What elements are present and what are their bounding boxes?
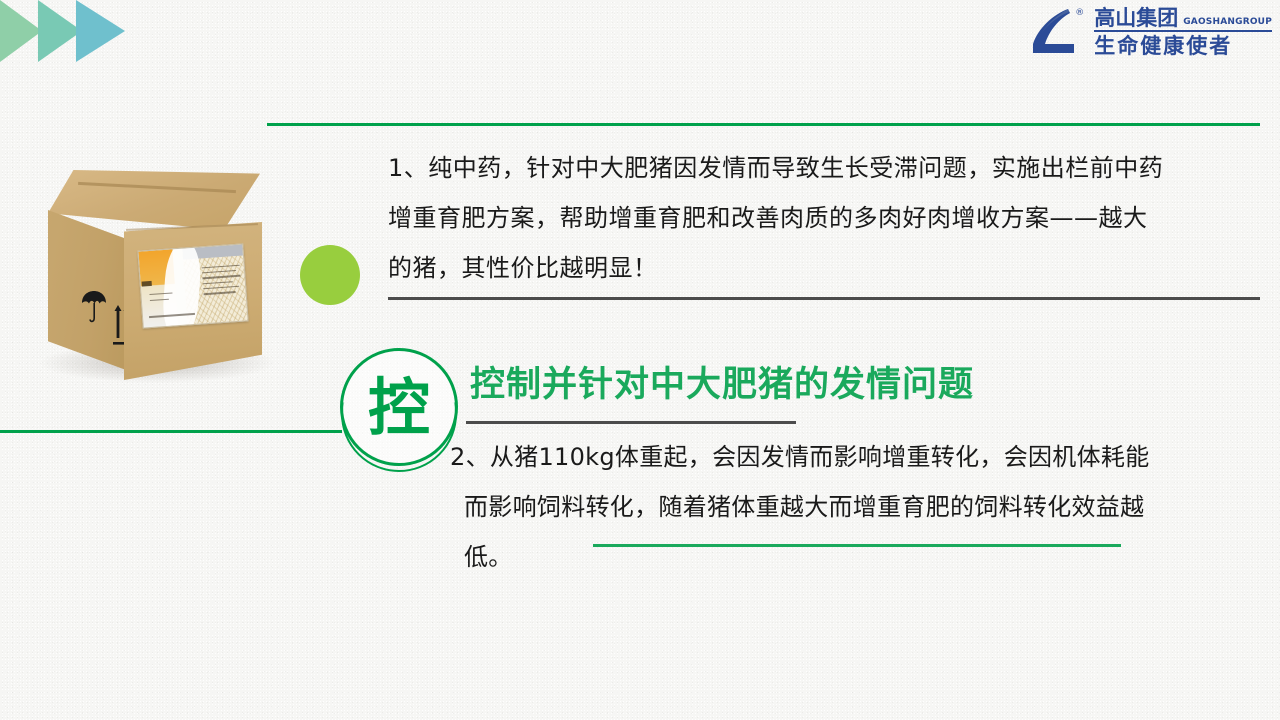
paragraph-2-line-1: 2、从猪110kg体重起，会因发情而影响增重转化，会因机体耗能 [450,443,1150,471]
brand-tagline: 生命健康使者 [1094,33,1272,58]
rule-under-paragraph-1 [388,297,1260,300]
brand-wordmark: 高山集团 GAOSHANGROUP 生命健康使者 [1094,8,1272,58]
brand-name-row: 高山集团 GAOSHANGROUP [1094,8,1272,32]
rule-top [267,123,1260,126]
product-label [137,243,248,328]
gaoshan-logo-mark-icon: ® [1024,6,1086,60]
green-bullet-dot [300,245,360,305]
brand-name-en: GAOSHANGROUP [1183,17,1272,29]
brand-logo: ® 高山集团 GAOSHANGROUP 生命健康使者 [1024,4,1272,62]
product-label-title-block [142,281,152,287]
paragraph-1-text: 1、纯中药，针对中大肥猪因发情而导致生长受滞问题，实施出栏前中药增重育肥方案，帮… [388,143,1170,293]
paragraph-2-line-2: 而影响饲料转化，随着猪体重越大而增重育肥的饲料转化效益越低。 [464,482,1162,582]
paragraph-2-text: 2、从猪110kg体重起，会因发情而影响增重转化，会因机体耗能 而影响饲料转化，… [450,432,1162,582]
brand-name-cn: 高山集团 [1094,8,1178,29]
carton-top-face [48,170,260,230]
rule-left-green [0,430,342,433]
registered-trademark-icon: ® [1075,8,1084,18]
chevron-arrow-1-icon [0,0,42,62]
chevron-arrow-3-icon [76,0,125,62]
badge-character: 控 [340,348,458,468]
slide-canvas: ® 高山集团 GAOSHANGROUP 生命健康使者 [0,0,1280,720]
keep-dry-umbrella-icon [80,290,108,324]
chevron-decoration [0,0,125,62]
control-badge: 控 [337,344,461,468]
rule-under-heading [466,421,796,424]
section-heading: 控制并针对中大肥猪的发情问题 [470,366,974,405]
